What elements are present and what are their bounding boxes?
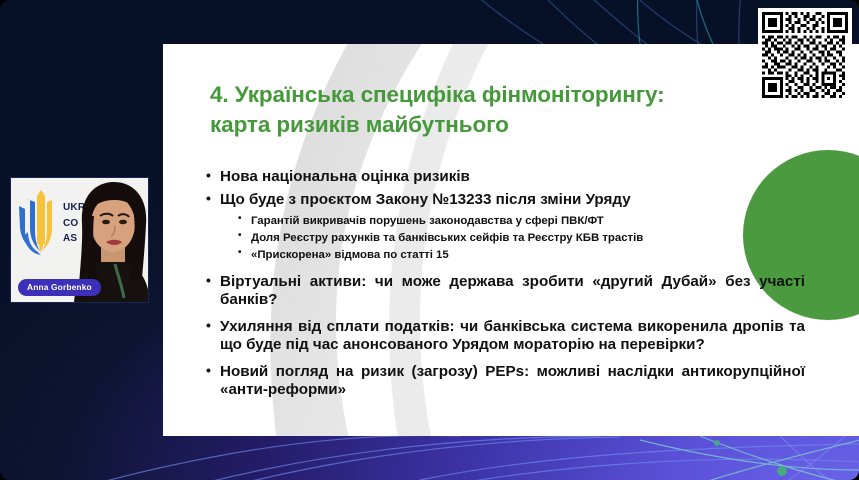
bullet-item: Новий погляд на ризик (загрозу) PEPs: мо…: [205, 363, 805, 400]
bullet-item: Нова національна оцінка ризиків: [205, 168, 805, 187]
bullet-item: Ухиляння від сплати податків: чи банківс…: [205, 318, 805, 355]
sub-bullet-list: Гарантій викривачів порушень законодавст…: [205, 213, 805, 264]
qr-code-icon[interactable]: [758, 8, 852, 102]
bullet-item: Віртуальні активи: чи може держава зроби…: [205, 273, 805, 310]
slide-content: 4. Українська специфіка фінмоніторингу: …: [163, 44, 859, 436]
participant-video-stream: UKR CO AS: [11, 178, 148, 302]
participant-video-tile[interactable]: UKR CO AS: [10, 177, 149, 303]
slide-title-line-1: 4. Українська специфіка фінмоніторингу:: [210, 80, 800, 110]
slide-title: 4. Українська специфіка фінмоніторингу: …: [210, 80, 800, 139]
ukrainian-trident-logo: [15, 186, 67, 264]
slide-bullet-list: Нова національна оцінка ризиків Що буде …: [205, 168, 805, 408]
sub-bullet-item: Доля Реєстру рахунків та банківських сей…: [205, 230, 805, 246]
sub-bullet-item: «Прискорена» відмова по статті 15: [205, 247, 805, 263]
screen: 4. Українська специфіка фінмоніторингу: …: [0, 0, 859, 480]
bullet-item: Що буде з проєктом Закону №13233 після з…: [205, 191, 805, 210]
participant-name-badge: Anna Gorbenko: [18, 279, 101, 296]
presentation-slide: 4. Українська специфіка фінмоніторингу: …: [163, 44, 859, 436]
slide-title-line-2: карта ризиків майбутнього: [210, 110, 800, 140]
sub-bullet-item: Гарантій викривачів порушень законодавст…: [205, 213, 805, 229]
